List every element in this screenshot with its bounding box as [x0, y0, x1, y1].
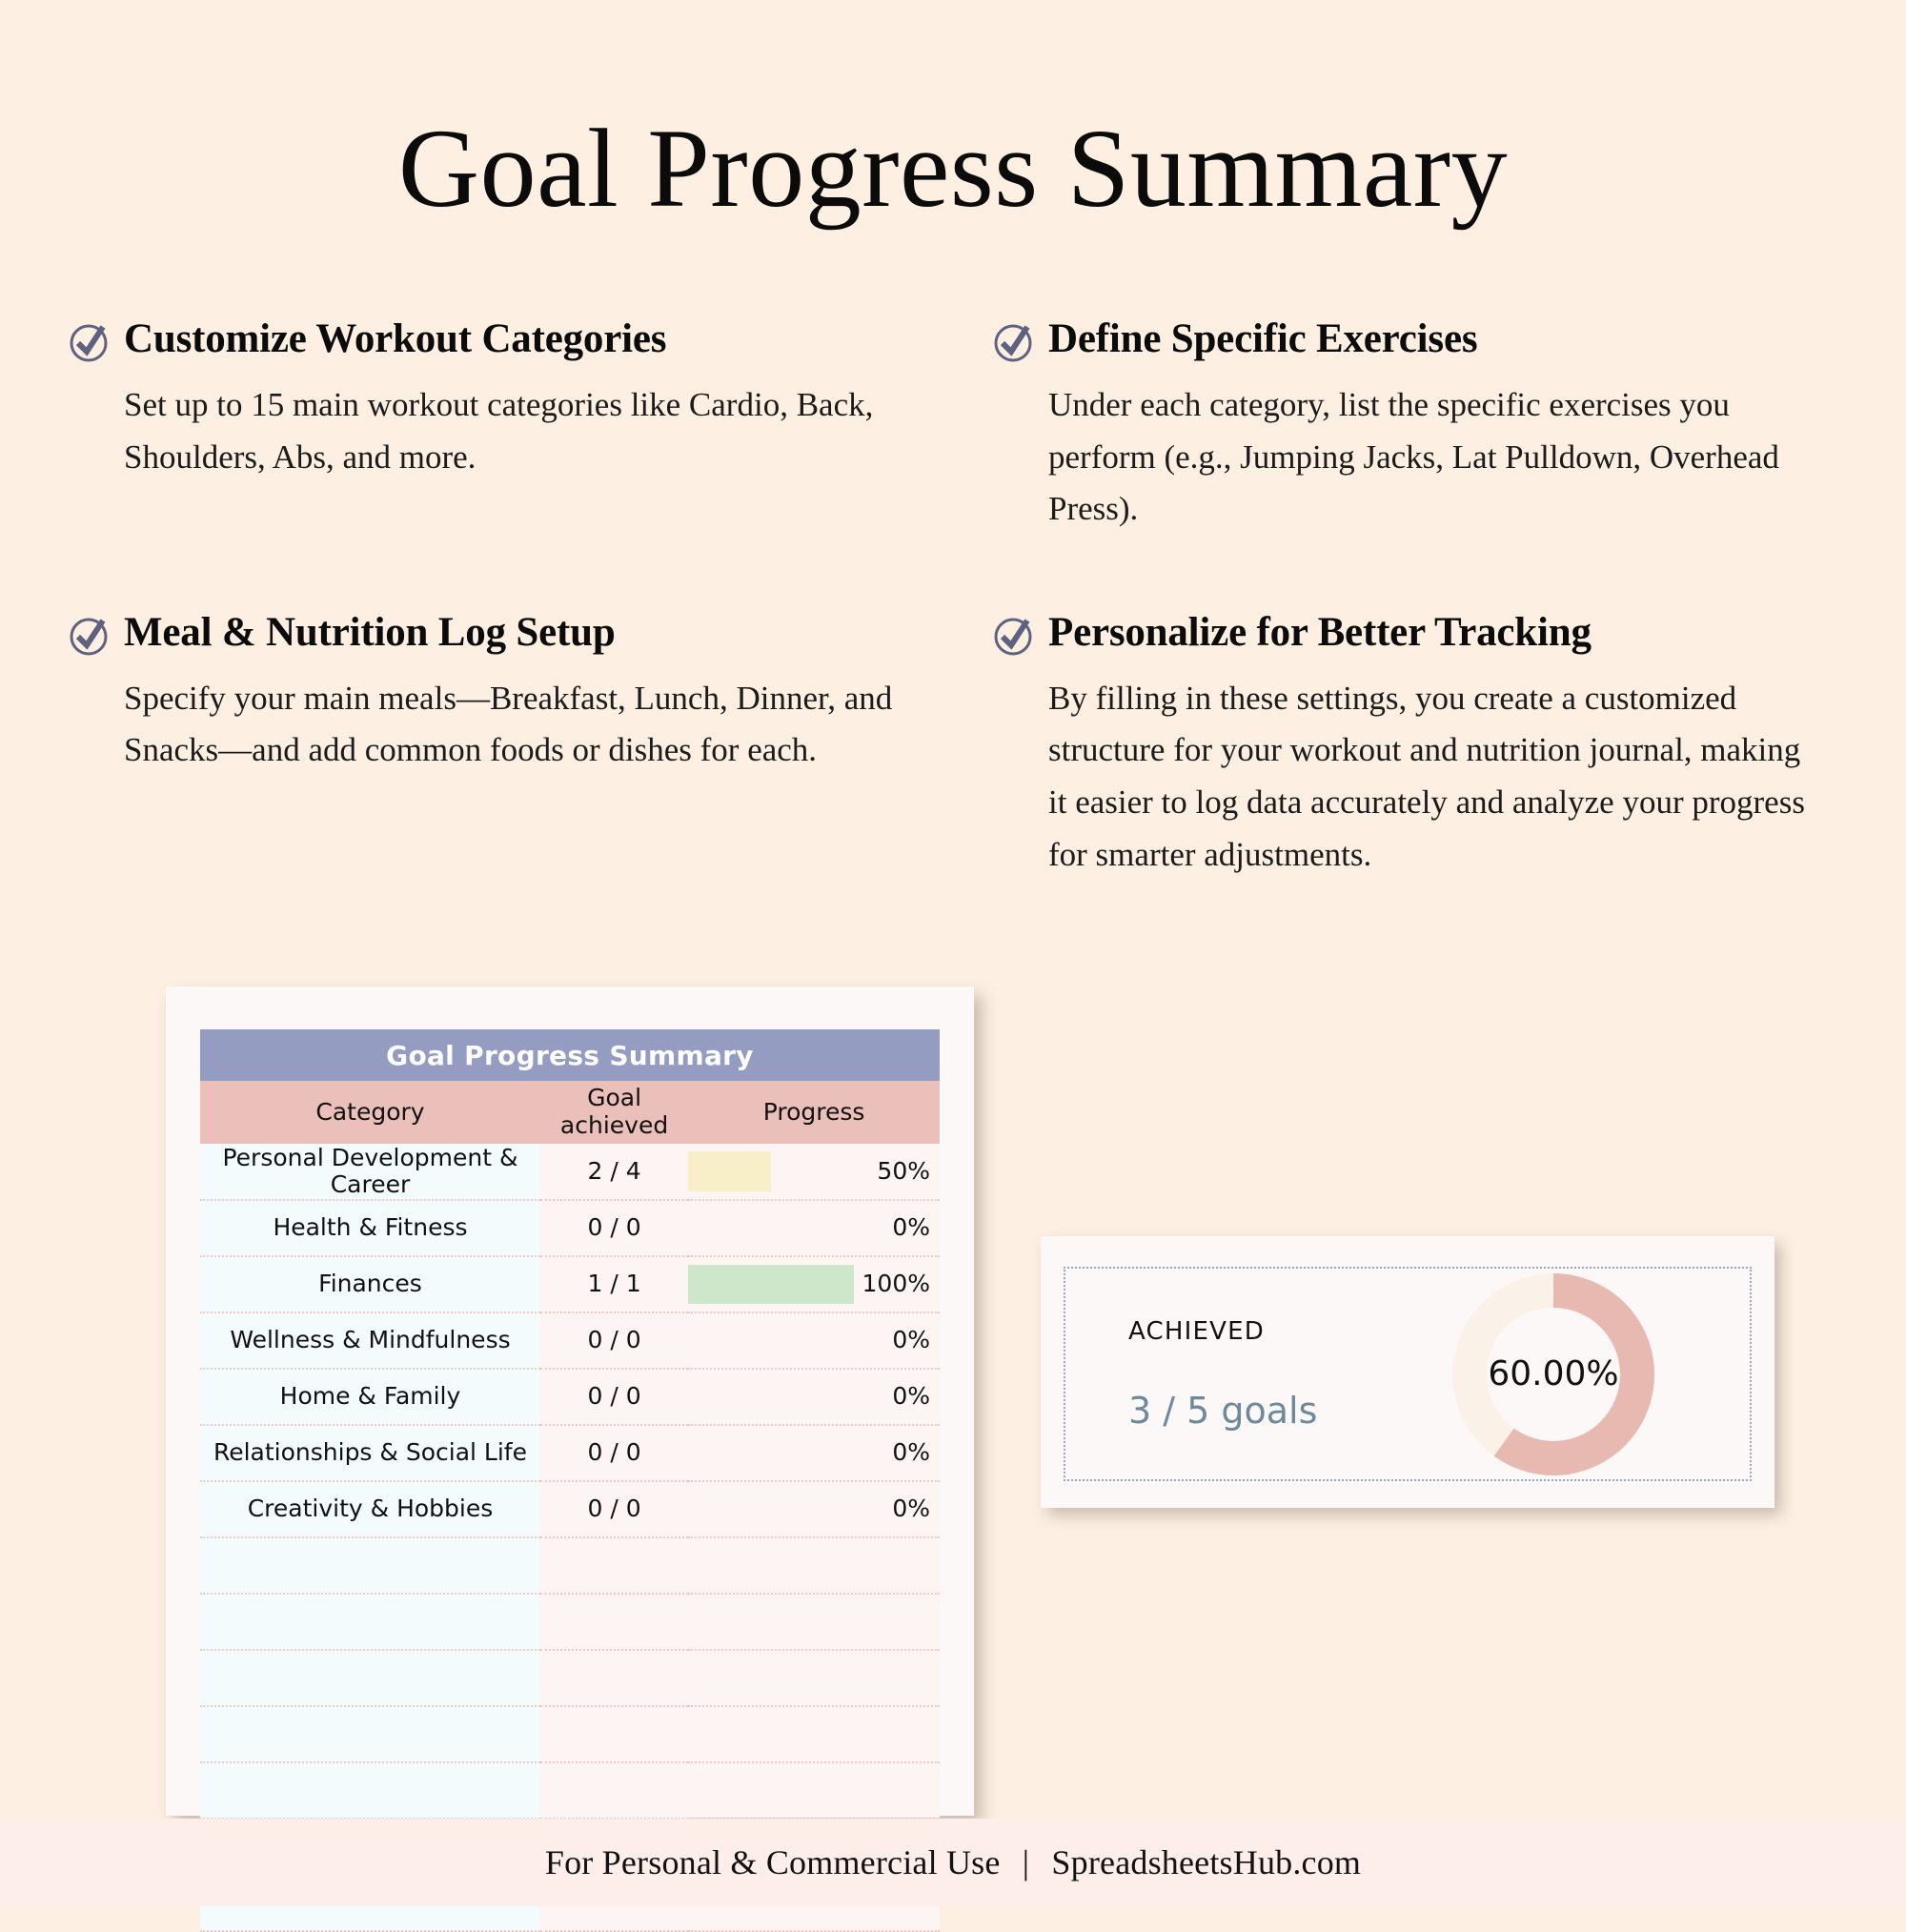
- feature-title: Meal & Nutrition Log Setup: [124, 610, 616, 656]
- progress-percent-label: 0%: [892, 1495, 930, 1523]
- cell-progress: 100%: [688, 1256, 940, 1312]
- table-row[interactable]: Wellness & Mindfulness0 / 00%: [200, 1312, 940, 1369]
- table-banner: Goal Progress Summary: [200, 1029, 940, 1081]
- cell-empty: [688, 1537, 940, 1594]
- feature-heading-row: Define Specific Exercises: [991, 316, 1811, 364]
- circled-check-icon: [67, 614, 111, 658]
- circled-check-icon: [67, 320, 111, 364]
- achieved-summary-card: ACHIEVED 3 / 5 goals 60.00%: [1041, 1236, 1774, 1508]
- progress-percent-label: 0%: [892, 1439, 930, 1467]
- cell-progress: 50%: [688, 1144, 940, 1200]
- feature-heading-row: Meal & Nutrition Log Setup: [67, 610, 905, 658]
- progress-bar-fill: [688, 1265, 854, 1304]
- donut-center: 60.00%: [1487, 1308, 1620, 1441]
- footer-text: For Personal & Commercial Use | Spreadsh…: [545, 1842, 1361, 1882]
- table-row-empty[interactable]: [200, 1594, 940, 1650]
- cell-goal-achieved: 2 / 4: [540, 1144, 688, 1200]
- cell-category: Finances: [200, 1256, 540, 1312]
- progress-bar: 50%: [688, 1144, 940, 1199]
- footer-left-text: For Personal & Commercial Use: [545, 1843, 1001, 1881]
- cell-empty: [200, 1594, 540, 1650]
- table-banner-row: Goal Progress Summary: [200, 1029, 940, 1081]
- progress-bar: 0%: [688, 1370, 940, 1424]
- table-row-empty[interactable]: [200, 1650, 940, 1706]
- table-row[interactable]: Personal Development & Career2 / 450%: [200, 1144, 940, 1200]
- achieved-label: ACHIEVED: [1128, 1317, 1452, 1346]
- table-row-empty[interactable]: [200, 1762, 940, 1819]
- table-row[interactable]: Health & Fitness0 / 00%: [200, 1200, 940, 1256]
- feature-grid: Customize Workout Categories Set up to 1…: [0, 225, 1906, 881]
- goals-value: 3 / 5 goals: [1128, 1390, 1452, 1432]
- cell-goal-achieved: 0 / 0: [540, 1312, 688, 1369]
- feature-block-personalize-for-better-tracking: Personalize for Better Tracking By filli…: [972, 610, 1839, 881]
- footer-site-link[interactable]: SpreadsheetsHub.com: [1051, 1843, 1361, 1881]
- cell-empty: [540, 1594, 688, 1650]
- table-row-empty[interactable]: [200, 1706, 940, 1762]
- cell-category: Wellness & Mindfulness: [200, 1312, 540, 1369]
- table-row-empty[interactable]: [200, 1537, 940, 1594]
- cell-goal-achieved: 0 / 0: [540, 1369, 688, 1425]
- cell-category: Home & Family: [200, 1369, 540, 1425]
- circled-check-icon: [991, 614, 1035, 658]
- cell-progress: 0%: [688, 1481, 940, 1537]
- achieved-card-inner: ACHIEVED 3 / 5 goals 60.00%: [1064, 1267, 1752, 1481]
- donut-percent-label: 60.00%: [1488, 1354, 1618, 1393]
- feature-block-define-specific-exercises: Define Specific Exercises Under each cat…: [972, 316, 1839, 536]
- cell-empty: [688, 1762, 940, 1819]
- cell-empty: [540, 1650, 688, 1706]
- cell-progress: 0%: [688, 1369, 940, 1425]
- cell-progress: 0%: [688, 1312, 940, 1369]
- spreadsheet-inner: Goal Progress Summary Category Goalachie…: [200, 1029, 940, 1932]
- table-row[interactable]: Finances1 / 1100%: [200, 1256, 940, 1312]
- feature-heading-row: Personalize for Better Tracking: [991, 610, 1811, 658]
- cell-category: Relationships & Social Life: [200, 1425, 540, 1481]
- spreadsheet-preview-card: Goal Progress Summary Category Goalachie…: [166, 986, 974, 1816]
- feature-body: Set up to 15 main workout categories lik…: [124, 379, 905, 483]
- cell-progress: 0%: [688, 1200, 940, 1256]
- cell-empty: [688, 1650, 940, 1706]
- cell-goal-achieved: 1 / 1: [540, 1256, 688, 1312]
- column-header-category: Category: [200, 1081, 540, 1144]
- cell-empty: [688, 1594, 940, 1650]
- progress-bar-fill: [688, 1151, 771, 1191]
- table-body: Personal Development & Career2 / 450%Hea…: [200, 1144, 940, 1931]
- progress-bar: 0%: [688, 1313, 940, 1368]
- footer-band: For Personal & Commercial Use | Spreadsh…: [0, 1819, 1906, 1906]
- column-header-goal-achieved: Goalachieved: [540, 1081, 688, 1144]
- goal-progress-table: Goal Progress Summary Category Goalachie…: [200, 1029, 940, 1932]
- feature-body: Under each category, list the specific e…: [1048, 379, 1811, 536]
- cell-progress: 0%: [688, 1425, 940, 1481]
- progress-percent-label: 0%: [892, 1214, 930, 1242]
- table-row[interactable]: Creativity & Hobbies0 / 00%: [200, 1481, 940, 1537]
- feature-heading-row: Customize Workout Categories: [67, 316, 905, 364]
- feature-block-meal-nutrition-log-setup: Meal & Nutrition Log Setup Specify your …: [67, 610, 934, 881]
- cell-goal-achieved: 0 / 0: [540, 1200, 688, 1256]
- progress-percent-label: 0%: [892, 1383, 930, 1411]
- cell-empty: [200, 1706, 540, 1762]
- footer-separator: |: [1009, 1843, 1043, 1881]
- cell-category: Personal Development & Career: [200, 1144, 540, 1200]
- circled-check-icon: [991, 320, 1035, 364]
- progress-percent-label: 100%: [862, 1271, 930, 1298]
- cell-empty: [540, 1706, 688, 1762]
- progress-percent-label: 50%: [877, 1158, 930, 1186]
- cell-category: Health & Fitness: [200, 1200, 540, 1256]
- feature-title: Customize Workout Categories: [124, 316, 666, 362]
- cell-goal-achieved: 0 / 0: [540, 1481, 688, 1537]
- cell-empty: [200, 1650, 540, 1706]
- achieved-text-group: ACHIEVED 3 / 5 goals: [1065, 1317, 1452, 1432]
- feature-title: Define Specific Exercises: [1048, 316, 1477, 362]
- cell-category: Creativity & Hobbies: [200, 1481, 540, 1537]
- table-header-row: Category Goalachieved Progress: [200, 1081, 940, 1144]
- progress-bar: 0%: [688, 1426, 940, 1480]
- feature-block-customize-workout-categories: Customize Workout Categories Set up to 1…: [67, 316, 934, 536]
- progress-percent-label: 0%: [892, 1327, 930, 1354]
- table-row[interactable]: Relationships & Social Life0 / 00%: [200, 1425, 940, 1481]
- cell-empty: [688, 1706, 940, 1762]
- feature-title: Personalize for Better Tracking: [1048, 610, 1592, 656]
- progress-bar: 0%: [688, 1201, 940, 1255]
- table-row[interactable]: Home & Family0 / 00%: [200, 1369, 940, 1425]
- cell-empty: [200, 1762, 540, 1819]
- column-header-progress: Progress: [688, 1081, 940, 1144]
- feature-body: By filling in these settings, you create…: [1048, 673, 1811, 881]
- cell-empty: [540, 1762, 688, 1819]
- cell-empty: [540, 1537, 688, 1594]
- achieved-donut-chart: 60.00%: [1452, 1273, 1654, 1475]
- cell-goal-achieved: 0 / 0: [540, 1425, 688, 1481]
- progress-bar: 100%: [688, 1257, 940, 1312]
- cell-empty: [200, 1537, 540, 1594]
- progress-bar: 0%: [688, 1482, 940, 1536]
- feature-body: Specify your main meals—Breakfast, Lunch…: [124, 673, 905, 777]
- page-title: Goal Progress Summary: [0, 0, 1906, 225]
